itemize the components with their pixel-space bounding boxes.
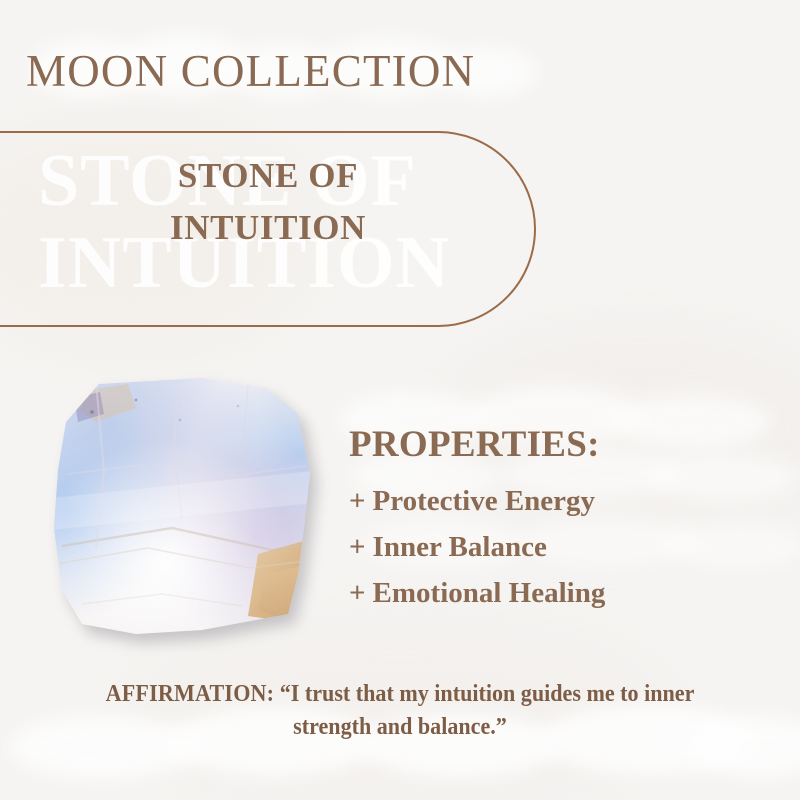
affirmation-label: AFFIRMATION: bbox=[106, 681, 275, 707]
plus-icon: + bbox=[349, 485, 366, 517]
properties-section: PROPERTIES: +Protective Energy +Inner Ba… bbox=[349, 424, 769, 616]
list-item: +Protective Energy bbox=[349, 478, 769, 524]
property-label: Protective Energy bbox=[373, 485, 596, 517]
affirmation-block: AFFIRMATION: “I trust that my intuition … bbox=[64, 678, 736, 744]
moonstone-slab-icon bbox=[52, 378, 322, 636]
moon-collection-card: MOON COLLECTION STONE OF INTUITION STONE… bbox=[0, 0, 800, 800]
plus-icon: + bbox=[349, 531, 366, 563]
property-label: Emotional Healing bbox=[373, 577, 606, 609]
stone-name-label: STONE OF INTUITION bbox=[0, 150, 536, 254]
page-title: MOON COLLECTION bbox=[26, 46, 475, 96]
list-item: +Emotional Healing bbox=[349, 570, 769, 616]
property-label: Inner Balance bbox=[373, 531, 547, 563]
list-item: +Inner Balance bbox=[349, 524, 769, 570]
crystal-image-container bbox=[40, 370, 340, 660]
properties-heading: PROPERTIES: bbox=[349, 424, 769, 466]
plus-icon: + bbox=[349, 577, 366, 609]
affirmation-quote: “I trust that my intuition guides me to … bbox=[280, 681, 695, 740]
